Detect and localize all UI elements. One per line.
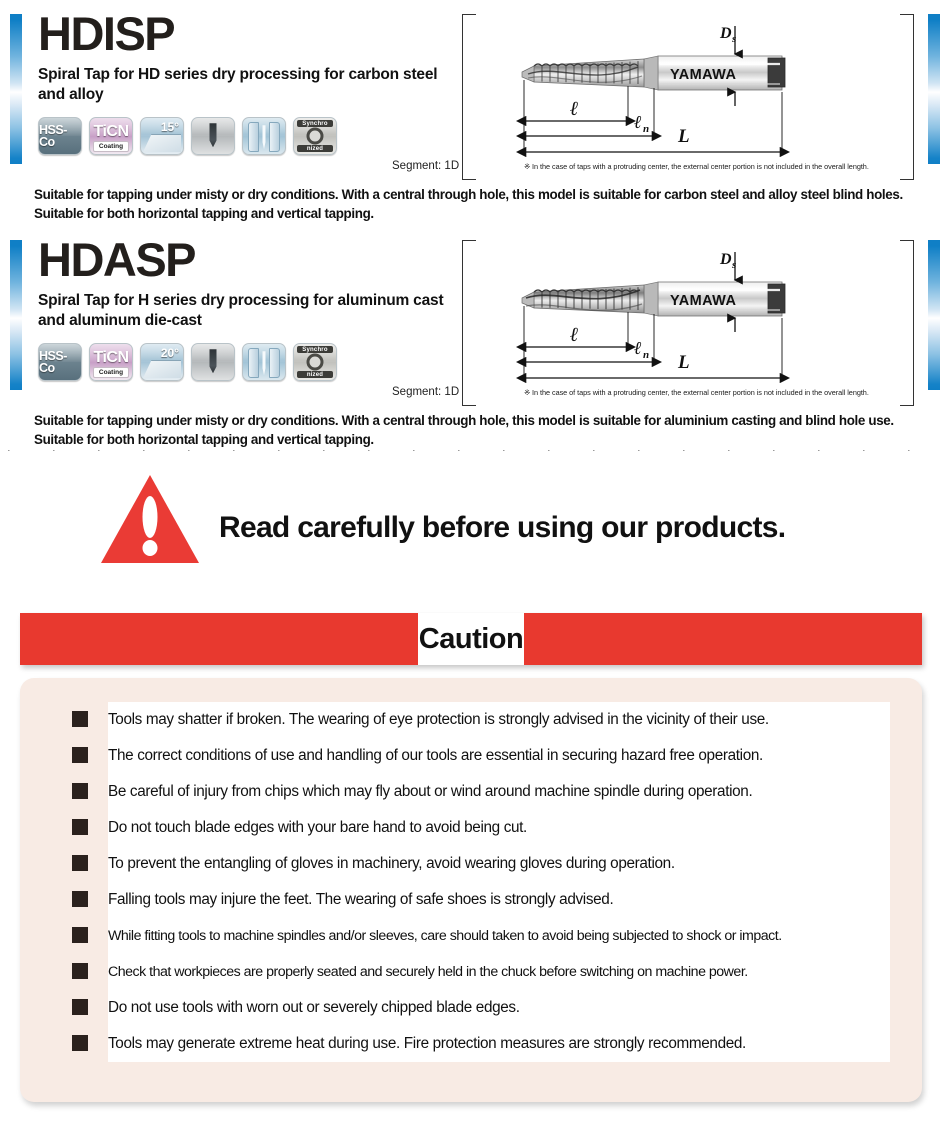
warning-triangle-icon: [98, 472, 202, 566]
tap-technical-drawing: D s: [462, 14, 914, 180]
bullet-square-icon: [72, 711, 88, 727]
helix-angle-value: 20°: [161, 346, 179, 360]
synchro-label-top: Synchro: [297, 346, 333, 353]
caution-item-text: Be careful of injury from chips which ma…: [108, 774, 890, 810]
caution-item-text: While fitting tools to machine spindles …: [108, 918, 890, 954]
segment-label: Segment: 1D: [392, 386, 459, 398]
feature-badge-row: HSS-Co TiCN Coating 15°: [38, 117, 458, 155]
bullet-square-icon: [72, 747, 88, 763]
helix-angle-badge[interactable]: 15°: [140, 117, 184, 155]
svg-text:YAMAWA: YAMAWA: [670, 67, 736, 83]
svg-text:L: L: [677, 352, 690, 373]
svg-text:ℓ: ℓ: [570, 324, 579, 346]
synchro-label-top: Synchro: [297, 120, 333, 127]
list-item: Do not use tools with worn out or severe…: [52, 990, 890, 1026]
caution-item-text: Tools may generate extreme heat during u…: [108, 1026, 890, 1062]
ticn-caption: Coating: [93, 141, 129, 152]
svg-text:D: D: [719, 251, 732, 268]
blind-hole-icon: [210, 123, 217, 147]
caution-item-text: Falling tools may injure the feet. The w…: [108, 882, 890, 918]
blind-hole-badge[interactable]: [191, 117, 235, 155]
synchro-nized-badge[interactable]: Synchro nized: [293, 343, 337, 381]
product-description-hdasp: Suitable for tapping under misty or dry …: [34, 412, 924, 449]
helix-angle-shape-icon: [143, 360, 181, 378]
caution-item-text: Do not touch blade edges with your bare …: [108, 810, 890, 846]
helix-angle-badge[interactable]: 20°: [140, 343, 184, 381]
list-item: Do not touch blade edges with your bare …: [52, 810, 890, 846]
accent-bar-right-bottom: [928, 240, 940, 390]
product-info-hdisp: HDISP Spiral Tap for HD series dry proce…: [38, 10, 458, 155]
caution-label-chip: Caution: [418, 613, 524, 665]
svg-text:ℓ: ℓ: [634, 112, 642, 132]
blind-hole-badge[interactable]: [191, 343, 235, 381]
list-item: Falling tools may injure the feet. The w…: [52, 882, 890, 918]
caution-banner: Caution: [20, 613, 922, 665]
ticn-caption: Coating: [93, 367, 129, 378]
list-item: Tools may shatter if broken. The wearing…: [52, 702, 890, 738]
feature-badge-row: HSS-Co TiCN Coating 20°: [38, 343, 458, 381]
bullet-square-icon: [72, 855, 88, 871]
tap-drawing-hdisp: D s: [462, 14, 914, 180]
bullet-square-icon: [72, 783, 88, 799]
bullet-square-icon: [72, 927, 88, 943]
through-hole-wall-right-icon: [269, 348, 280, 378]
gear-icon: [307, 128, 324, 145]
through-hole-wall-left-icon: [248, 348, 259, 378]
bullet-square-icon: [72, 819, 88, 835]
helix-angle-shape-icon: [143, 134, 181, 152]
synchro-nized-badge[interactable]: Synchro nized: [293, 117, 337, 155]
bullet-square-icon: [72, 1035, 88, 1051]
through-hole-badge[interactable]: [242, 343, 286, 381]
through-hole-pin-icon: [263, 125, 266, 149]
product-description-hdisp: Suitable for tapping under misty or dry …: [34, 186, 924, 223]
drawing-note: ※ In the case of taps with a protruding …: [524, 162, 869, 171]
blind-hole-icon: [210, 349, 217, 373]
through-hole-wall-right-icon: [269, 122, 280, 152]
caution-item-text: Do not use tools with worn out or severe…: [108, 990, 890, 1026]
svg-text:D: D: [719, 25, 732, 42]
drawing-note: ※ In the case of taps with a protruding …: [524, 388, 869, 397]
caution-item-text: Check that workpieces are properly seate…: [108, 954, 890, 990]
bullet-square-icon: [72, 891, 88, 907]
product-subtitle: Spiral Tap for H series dry processing f…: [38, 291, 458, 331]
product-subtitle: Spiral Tap for HD series dry processing …: [38, 65, 458, 105]
warning-headline-row: Read carefully before using our products…: [0, 472, 950, 582]
hss-co-badge[interactable]: HSS-Co: [38, 117, 82, 155]
caution-item-text: The correct conditions of use and handli…: [108, 738, 890, 774]
through-hole-pin-icon: [263, 351, 266, 375]
through-hole-wall-left-icon: [248, 122, 259, 152]
svg-text:ℓ: ℓ: [570, 98, 579, 120]
accent-bar-left-bottom: [10, 240, 22, 390]
section-divider: [8, 450, 942, 451]
caution-list: Tools may shatter if broken. The wearing…: [52, 702, 890, 1062]
svg-text:YAMAWA: YAMAWA: [670, 293, 736, 309]
caution-label: Caution: [419, 623, 523, 656]
list-item: Tools may generate extreme heat during u…: [52, 1026, 890, 1062]
synchro-label-bottom: nized: [297, 371, 333, 378]
caution-panel: Tools may shatter if broken. The wearing…: [20, 678, 922, 1102]
gear-icon: [307, 354, 324, 371]
bullet-square-icon: [72, 999, 88, 1015]
svg-text:n: n: [643, 349, 649, 361]
accent-bar-right-top: [928, 14, 940, 164]
svg-text:L: L: [677, 126, 690, 147]
caution-item-text: To prevent the entangling of gloves in m…: [108, 846, 890, 882]
tap-drawing-hdasp: D s ℓ ℓ n L YAMAWA ※ In the case of taps…: [462, 240, 914, 406]
list-item: The correct conditions of use and handli…: [52, 738, 890, 774]
hss-co-badge[interactable]: HSS-Co: [38, 343, 82, 381]
through-hole-badge[interactable]: [242, 117, 286, 155]
helix-angle-value: 15°: [161, 120, 179, 134]
catalog-page: HDISP Spiral Tap for HD series dry proce…: [0, 0, 950, 1138]
segment-label: Segment: 1D: [392, 160, 459, 172]
product-title: HDASP: [38, 236, 458, 283]
svg-text:ℓ: ℓ: [634, 338, 642, 358]
product-title: HDISP: [38, 10, 458, 57]
svg-text:n: n: [643, 123, 649, 135]
list-item: Check that workpieces are properly seate…: [52, 954, 890, 990]
product-info-hdasp: HDASP Spiral Tap for H series dry proces…: [38, 236, 458, 381]
list-item: Be careful of injury from chips which ma…: [52, 774, 890, 810]
synchro-label-bottom: nized: [297, 145, 333, 152]
bullet-square-icon: [72, 963, 88, 979]
accent-bar-left-top: [10, 14, 22, 164]
tap-technical-drawing: D s ℓ ℓ n L YAMAWA: [462, 240, 914, 406]
ticn-coating-badge[interactable]: TiCN Coating: [89, 343, 133, 381]
caution-item-text: Tools may shatter if broken. The wearing…: [108, 702, 890, 738]
list-item: To prevent the entangling of gloves in m…: [52, 846, 890, 882]
warning-headline: Read carefully before using our products…: [219, 511, 785, 545]
ticn-coating-badge[interactable]: TiCN Coating: [89, 117, 133, 155]
list-item: While fitting tools to machine spindles …: [52, 918, 890, 954]
